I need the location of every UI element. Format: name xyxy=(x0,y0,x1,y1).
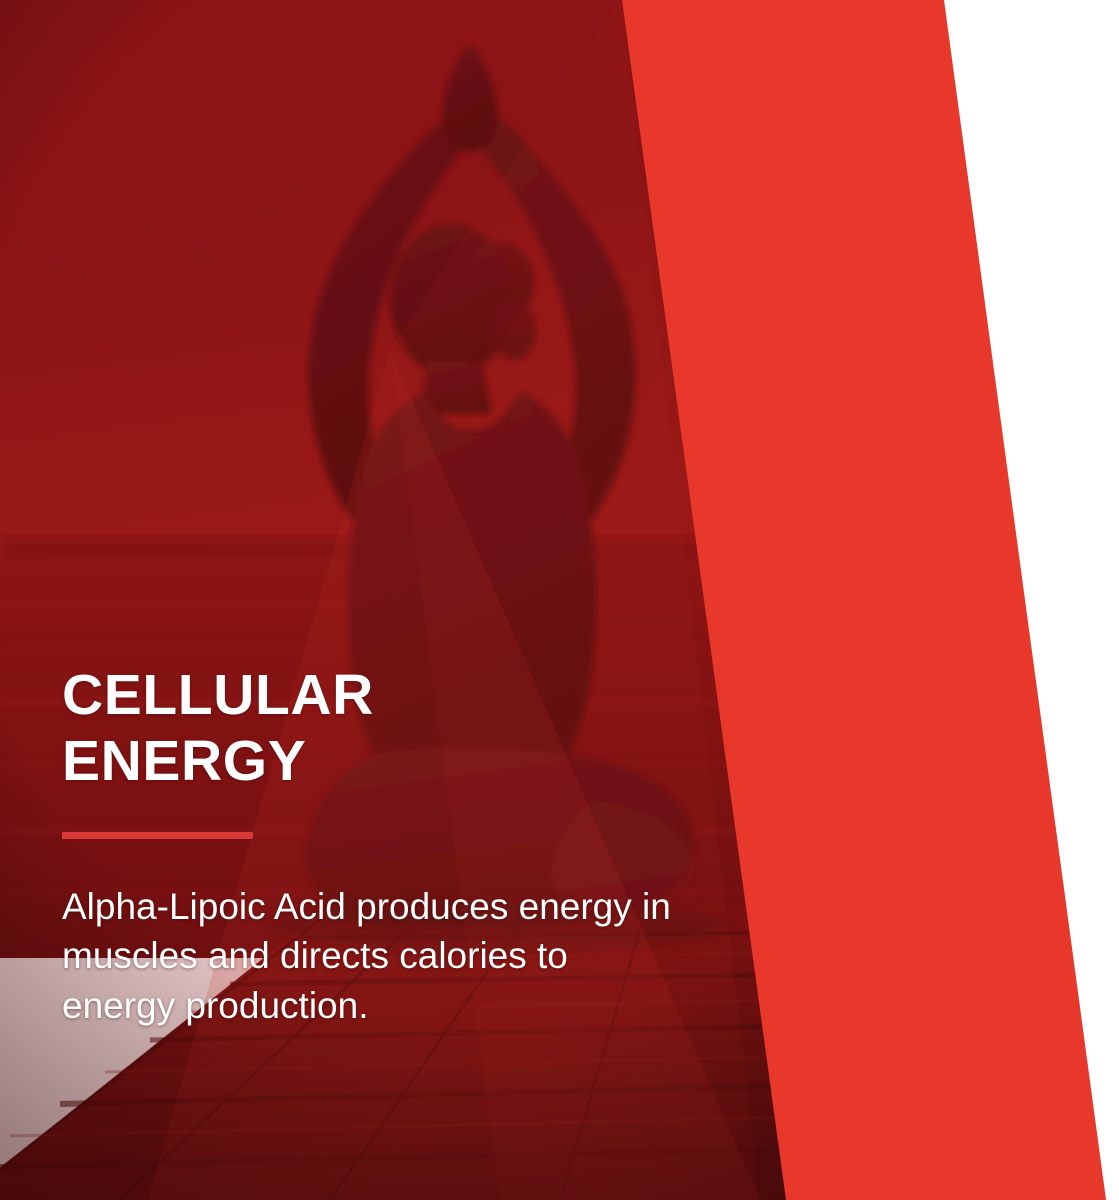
headline: CELLULAR ENERGY xyxy=(62,662,702,794)
benefit-card: CELLULAR ENERGY Alpha-Lipoic Acid produc… xyxy=(0,0,1119,1200)
accent-divider xyxy=(62,832,253,839)
body-copy: Alpha-Lipoic Acid produces energy in mus… xyxy=(62,882,687,1030)
text-content: CELLULAR ENERGY Alpha-Lipoic Acid produc… xyxy=(62,662,702,1030)
